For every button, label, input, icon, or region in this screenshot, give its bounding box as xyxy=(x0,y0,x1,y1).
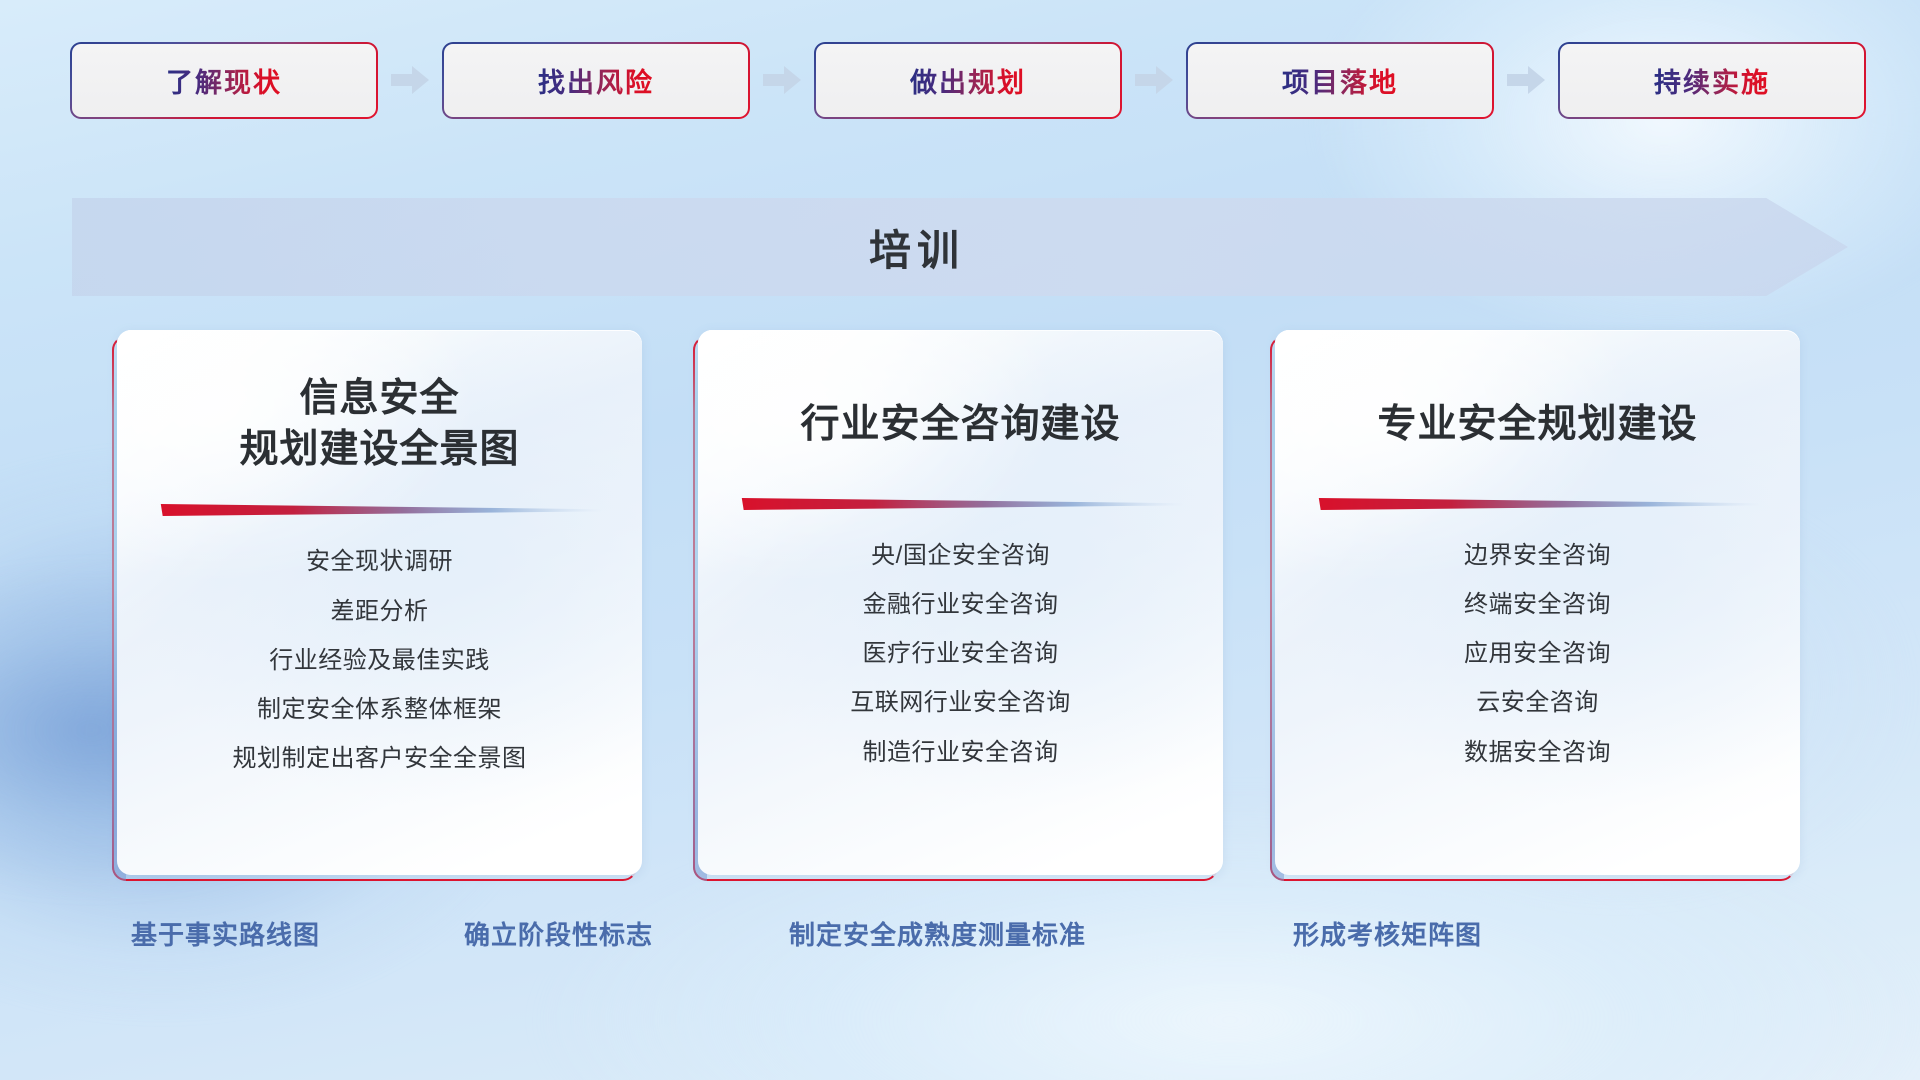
list-item: 制造行业安全咨询 xyxy=(863,732,1059,773)
card-3-list: 边界安全咨询 终端安全咨询 应用安全咨询 云安全咨询 数据安全咨询 xyxy=(1301,535,1774,773)
card-2-divider xyxy=(738,495,1183,513)
step-label-3: 做出规划 xyxy=(910,61,1026,100)
bottom-label-1: 基于事实路线图 xyxy=(131,915,320,952)
list-item: 安全现状调研 xyxy=(306,541,453,582)
list-item: 金融行业安全咨询 xyxy=(863,584,1059,625)
card-3-body: 专业安全规划建设 xyxy=(1275,330,1800,875)
card-1-divider xyxy=(157,501,602,519)
card-1-body: 信息安全 规划建设全景图 xyxy=(117,330,642,875)
card-1[interactable]: 信息安全 规划建设全景图 xyxy=(117,330,642,875)
bottom-labels-row: 基于事实路线图 确立阶段性标志 制定安全成熟度测量标准 形成考核矩阵图 xyxy=(0,915,1920,975)
card-2-title: 行业安全咨询建设 xyxy=(724,374,1197,451)
card-3[interactable]: 专业安全规划建设 xyxy=(1275,330,1800,875)
training-banner-label: 培训 xyxy=(72,198,1762,296)
diagram-canvas: 了解现状 找出风险 做出规划 项目落地 xyxy=(0,0,1920,1080)
step-box-2[interactable]: 找出风险 xyxy=(444,44,748,117)
step-box-4[interactable]: 项目落地 xyxy=(1188,44,1492,117)
bottom-label-4: 形成考核矩阵图 xyxy=(1293,915,1482,952)
list-item: 规划制定出客户安全全景图 xyxy=(233,738,527,779)
card-2[interactable]: 行业安全咨询建设 xyxy=(698,330,1223,875)
list-item: 制定安全体系整体框架 xyxy=(257,689,502,730)
list-item: 行业经验及最佳实践 xyxy=(269,640,490,681)
right-arrow-icon xyxy=(1507,65,1545,95)
list-item: 医疗行业安全咨询 xyxy=(863,633,1059,674)
step-label-4: 项目落地 xyxy=(1282,61,1398,100)
step-box-5[interactable]: 持续实施 xyxy=(1560,44,1864,117)
step-box-3[interactable]: 做出规划 xyxy=(816,44,1120,117)
right-arrow-icon xyxy=(763,65,801,95)
card-1-title: 信息安全 规划建设全景图 xyxy=(143,374,616,475)
right-arrow-icon xyxy=(1135,65,1173,95)
list-item: 数据安全咨询 xyxy=(1464,732,1611,773)
list-item: 央/国企安全咨询 xyxy=(871,535,1050,576)
step-label-1: 了解现状 xyxy=(166,61,282,100)
training-banner: 培训 xyxy=(72,198,1848,296)
list-item: 云安全咨询 xyxy=(1476,682,1599,723)
card-2-list: 央/国企安全咨询 金融行业安全咨询 医疗行业安全咨询 互联网行业安全咨询 制造行… xyxy=(724,535,1197,773)
list-item: 差距分析 xyxy=(331,591,429,632)
process-steps-row: 了解现状 找出风险 做出规划 项目落地 xyxy=(0,0,1920,160)
card-3-title: 专业安全规划建设 xyxy=(1301,374,1774,451)
list-item: 终端安全咨询 xyxy=(1464,584,1611,625)
right-arrow-icon xyxy=(391,65,429,95)
list-item: 应用安全咨询 xyxy=(1464,633,1611,674)
card-2-body: 行业安全咨询建设 xyxy=(698,330,1223,875)
step-label-2: 找出风险 xyxy=(538,61,654,100)
list-item: 边界安全咨询 xyxy=(1464,535,1611,576)
step-box-1[interactable]: 了解现状 xyxy=(72,44,376,117)
card-1-list: 安全现状调研 差距分析 行业经验及最佳实践 制定安全体系整体框架 规划制定出客户… xyxy=(143,541,616,779)
bottom-label-2: 确立阶段性标志 xyxy=(464,915,653,952)
step-label-5: 持续实施 xyxy=(1654,61,1770,100)
bottom-label-3: 制定安全成熟度测量标准 xyxy=(789,915,1086,952)
cards-row: 信息安全 规划建设全景图 xyxy=(0,330,1920,890)
list-item: 互联网行业安全咨询 xyxy=(850,682,1071,723)
card-3-divider xyxy=(1315,495,1760,513)
